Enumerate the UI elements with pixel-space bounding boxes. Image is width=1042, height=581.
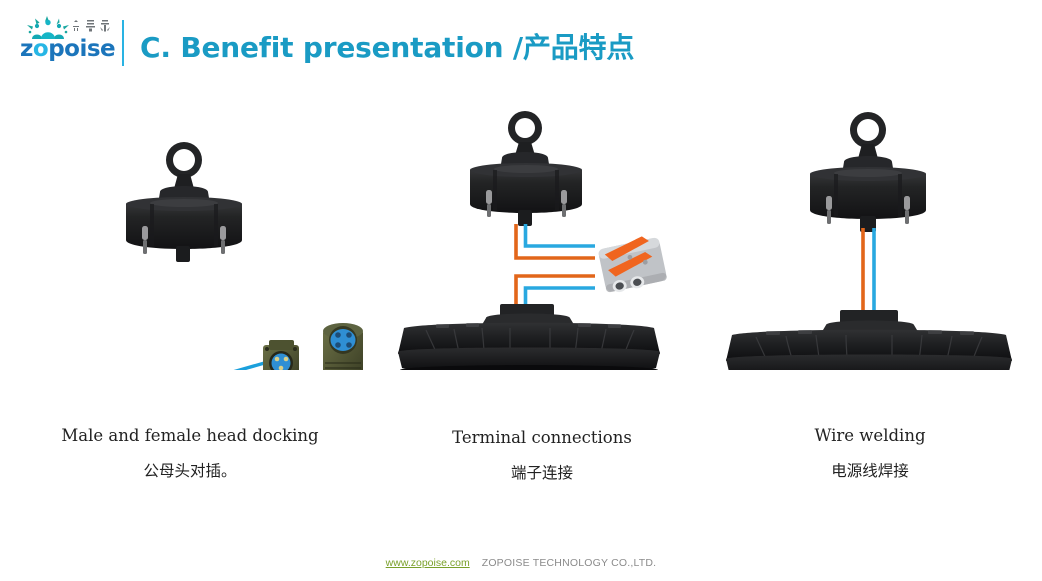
logo-wordmark: zopoise: [20, 36, 115, 62]
lamp-hook-group: [842, 112, 894, 174]
lever-wire-connector: [597, 233, 668, 295]
wire-routing-group: [516, 224, 595, 306]
panel-male-female-head-docking: Male and female head docking 公母头对插。: [10, 100, 370, 500]
lamp-driver-cap: [126, 197, 242, 262]
figure-led-high-bay-with-soldered-wires: [710, 100, 1030, 370]
wire-blue-bottom: [526, 288, 596, 306]
female-aviation-connector: [323, 323, 363, 370]
footer-website-link[interactable]: www.zopoise.com: [386, 557, 470, 569]
slide-root: zopoise C. Benefit presentation /产品特点: [0, 0, 1042, 581]
footer-company-name: ZOPOISE TECHNOLOGY CO.,LTD.: [482, 557, 657, 569]
lamp-driver-cap: [470, 163, 582, 226]
soldered-wires-group: [863, 228, 874, 318]
panel-3-caption: Wire welding 电源线焊接: [710, 425, 1030, 482]
panel-wire-welding: Wire welding 电源线焊接: [710, 100, 1030, 500]
lamp-hook-group: [158, 142, 210, 204]
panel-3-caption-cn: 电源线焊接: [710, 460, 1030, 482]
panel-1-caption-cn: 公母头对插。: [10, 460, 370, 482]
wire-blue-top: [526, 224, 596, 246]
logo-word-z: z: [20, 36, 33, 62]
logo-word-o: o: [33, 36, 48, 62]
zopoise-logo: zopoise: [20, 16, 110, 64]
male-aviation-connector: [263, 340, 299, 370]
figure-led-high-bay-with-lever-connector: [392, 100, 692, 370]
lamp-base-body: [398, 304, 660, 370]
figure-led-high-bay-with-aviation-connectors: [10, 100, 370, 370]
slide-footer: www.zopoise.comZOPOISE TECHNOLOGY CO.,LT…: [0, 553, 1042, 571]
logo-chinese-characters: [72, 19, 114, 33]
panel-terminal-connections: Terminal connections 端子连接: [392, 100, 692, 500]
logo-word-poise: poise: [48, 36, 115, 62]
header-divider: [122, 20, 124, 66]
panel-row: Male and female head docking 公母头对插。: [0, 100, 1042, 500]
panel-2-caption-cn: 端子连接: [392, 462, 692, 484]
page-title: C. Benefit presentation /产品特点: [140, 26, 634, 66]
panel-2-caption-en: Terminal connections: [392, 427, 692, 449]
wire-orange-top: [516, 224, 595, 258]
wire-orange-bottom: [516, 276, 595, 306]
panel-3-caption-en: Wire welding: [710, 425, 1030, 447]
lamp-hook-group: [500, 111, 550, 170]
panel-2-caption: Terminal connections 端子连接: [392, 427, 692, 484]
panel-1-caption: Male and female head docking 公母头对插。: [10, 425, 370, 482]
assembly-arrow-icon: [180, 362, 268, 370]
panel-1-caption-en: Male and female head docking: [10, 425, 370, 447]
lamp-base-body: [726, 310, 1012, 370]
lamp-driver-cap: [810, 167, 926, 232]
slide-header: zopoise C. Benefit presentation /产品特点: [0, 0, 1042, 90]
